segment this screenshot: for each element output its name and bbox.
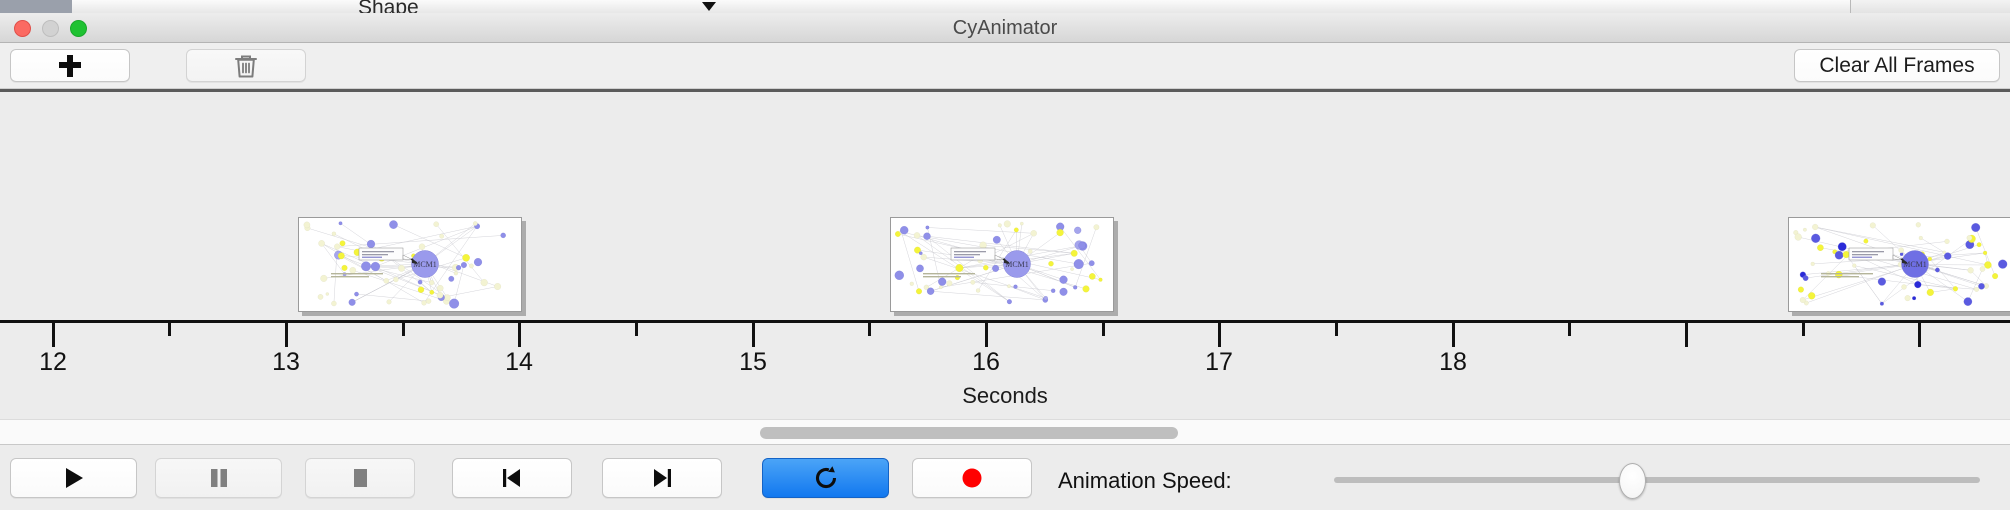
loop-icon <box>812 464 840 492</box>
timeline-panel: MCM1MCM1MCM1 12131415161718 Seconds <box>0 89 2010 419</box>
animation-speed-slider[interactable] <box>1334 477 1980 483</box>
play-icon <box>61 464 87 492</box>
axis-tick-label: 12 <box>39 348 67 377</box>
playback-controls: Animation Speed: <box>0 446 2010 510</box>
animation-speed-label: Animation Speed: <box>1058 468 1232 494</box>
axis-tick <box>402 323 405 336</box>
plus-icon <box>58 54 82 78</box>
loop-button[interactable] <box>762 458 889 498</box>
pause-button[interactable] <box>155 458 282 498</box>
play-button[interactable] <box>10 458 137 498</box>
axis-tick <box>168 323 171 336</box>
axis-tick <box>635 323 638 336</box>
svg-text:MCM1: MCM1 <box>1005 260 1029 269</box>
cyanimator-window: Shape CyAnimator Clear All Frames MCM1MC… <box>0 0 2010 510</box>
axis-line <box>0 320 2010 323</box>
axis-tick <box>52 323 55 347</box>
background-window-text: Shape <box>358 0 419 13</box>
slider-track[interactable] <box>1334 477 1980 483</box>
svg-text:MCM1: MCM1 <box>413 260 437 269</box>
next-frame-button[interactable] <box>602 458 722 498</box>
skip-forward-icon <box>649 464 675 492</box>
toolbar: Clear All Frames <box>0 43 2010 89</box>
previous-frame-button[interactable] <box>452 458 572 498</box>
axis-tick <box>518 323 521 347</box>
svg-text:MCM1: MCM1 <box>1903 260 1927 269</box>
frame-thumbnail[interactable]: MCM1 <box>890 217 1114 312</box>
axis-tick <box>868 323 871 336</box>
trash-icon <box>233 52 259 80</box>
axis-tick <box>1568 323 1571 336</box>
delete-frame-button[interactable] <box>186 49 306 82</box>
record-icon <box>959 465 985 491</box>
stop-button[interactable] <box>305 458 415 498</box>
timeline-axis: 12131415161718 Seconds <box>0 320 2010 419</box>
axis-tick-label: 17 <box>1205 348 1233 377</box>
axis-tick <box>1918 323 1921 347</box>
scrollbar-thumb[interactable] <box>760 427 1178 439</box>
axis-tick <box>285 323 288 347</box>
axis-tick-label: 18 <box>1439 348 1467 377</box>
axis-tick <box>1218 323 1221 347</box>
axis-tick <box>1685 323 1688 347</box>
axis-tick-label: 13 <box>272 348 300 377</box>
record-button[interactable] <box>912 458 1032 498</box>
frame-thumbnail[interactable]: MCM1 <box>1788 217 2010 312</box>
axis-tick <box>752 323 755 347</box>
skip-back-icon <box>499 464 525 492</box>
axis-tick <box>1335 323 1338 336</box>
axis-tick <box>1802 323 1805 336</box>
clear-all-frames-label: Clear All Frames <box>1819 54 1974 78</box>
timeline-scrollbar[interactable] <box>0 419 2010 445</box>
slider-thumb[interactable] <box>1619 463 1646 499</box>
axis-title: Seconds <box>0 383 2010 409</box>
add-frame-button[interactable] <box>10 49 130 82</box>
clear-all-frames-button[interactable]: Clear All Frames <box>1794 49 2000 82</box>
frame-thumbnails: MCM1MCM1MCM1 <box>0 92 2010 320</box>
pause-icon <box>207 464 231 492</box>
axis-tick <box>1452 323 1455 347</box>
axis-tick <box>985 323 988 347</box>
title-bar: CyAnimator <box>0 13 2010 43</box>
axis-tick-label: 14 <box>505 348 533 377</box>
axis-tick-label: 16 <box>972 348 1000 377</box>
frame-thumbnail[interactable]: MCM1 <box>298 217 522 312</box>
axis-tick-label: 15 <box>739 348 767 377</box>
axis-tick <box>1102 323 1105 336</box>
background-window-strip: Shape <box>0 0 2010 13</box>
stop-icon <box>348 464 372 492</box>
window-title: CyAnimator <box>0 13 2010 43</box>
